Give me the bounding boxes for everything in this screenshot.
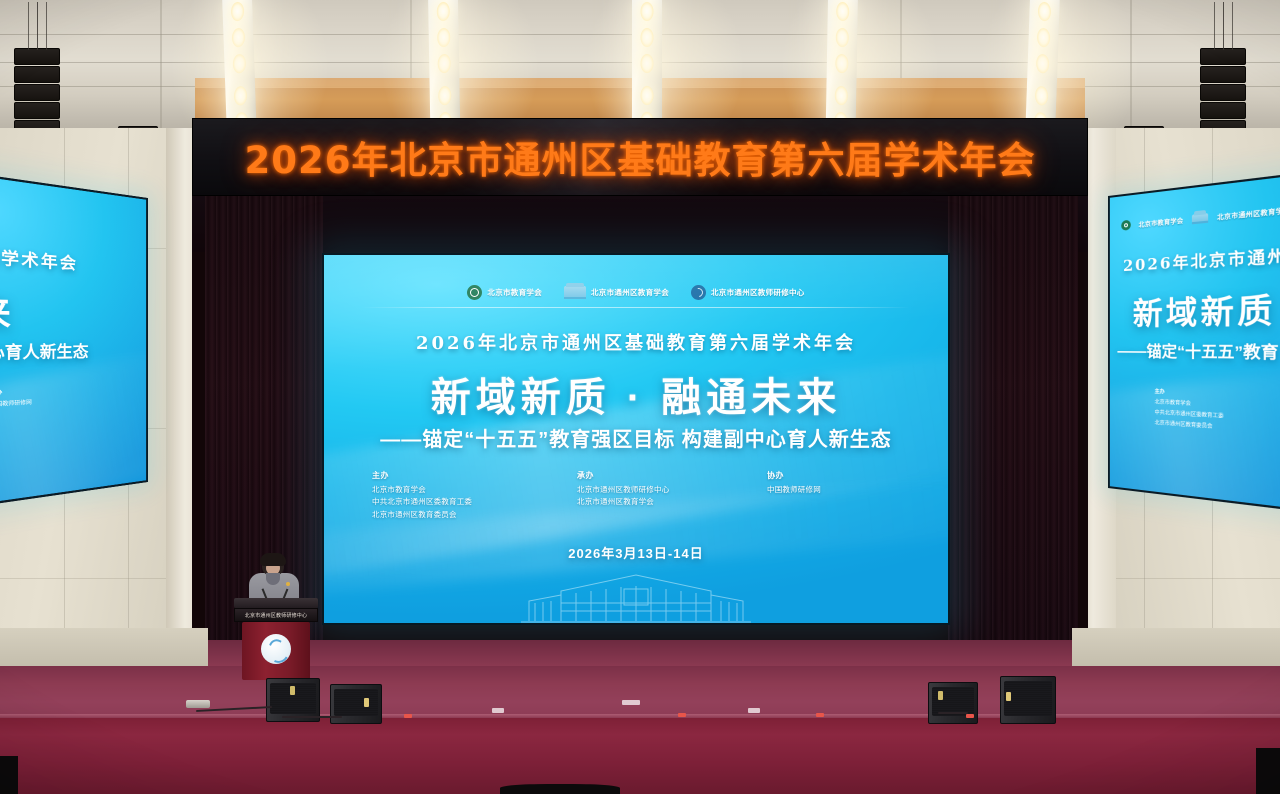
wall-base-right	[1072, 628, 1280, 670]
side-right-subtitle: ——锚定“十五五”教育	[1117, 340, 1278, 364]
slide-date: 2026年3月13日-14日	[324, 543, 948, 562]
credit-line: 北京市通州区教育学会	[577, 496, 767, 508]
slide-subtitle: ——锚定“十五五”教育强区目标 构建副中心育人新生态	[324, 423, 948, 452]
building-illustration	[521, 563, 751, 623]
stage-floor-marker	[492, 708, 504, 713]
logo-tongzhou-teacher-training-center: 北京市通州区教师研修中心	[691, 285, 805, 300]
credit-line: 中共北京市通州区委教育工委	[372, 496, 577, 508]
credit-heading: 协办	[767, 470, 821, 481]
stage-tape-mark	[966, 714, 974, 718]
speaker-hair	[260, 553, 286, 566]
floor-monitor-speaker	[1000, 676, 1056, 724]
banner-title-text: 2026年北京市通州区基础教育第六届学术年会	[245, 130, 1036, 184]
presentation-slide: 北京市教育学会 北京市通州区教育学会 北京市通州区教师研修中心 2026年北京市…	[324, 255, 948, 623]
side-right-logo-label: 北京市教育学会	[1139, 215, 1184, 229]
logo-beijing-education-society: 北京市教育学会	[467, 285, 542, 300]
side-led-screen-left[interactable]: 修中心 第六届学术年会 未来 建副中心育人新生态 协办 中国教师研修网	[0, 169, 148, 511]
auditorium-scene: 2026年北京市通州区基础教育第六届学术年会 北京市教育学会 北京市通州区教育学…	[0, 0, 1280, 794]
credit-line: 北京市通州区教师研修中心	[577, 484, 767, 496]
stage-floor-marker	[748, 708, 760, 713]
side-right-credit-line: 北京市教育学会	[1155, 398, 1191, 409]
podium-nameplate: 北京市通州区教师研修中心	[234, 608, 318, 622]
credit-column-host: 承办 北京市通州区教师研修中心 北京市通州区教育学会	[577, 470, 767, 521]
slide-logo-row: 北京市教育学会 北京市通州区教育学会 北京市通州区教师研修中心	[324, 285, 948, 300]
side-left-event-line: 第六届学术年会	[0, 240, 78, 274]
logo-tongzhou-education-society: 北京市通州区教育学会	[564, 286, 669, 299]
led-title-banner: 2026年北京市通州区基础教育第六届学术年会	[192, 118, 1088, 196]
stage-curtain-right	[948, 196, 1078, 666]
side-left-subtitle: 建副中心育人新生态	[0, 340, 88, 366]
credit-line: 北京市通州区教育委员会	[372, 509, 577, 521]
ceiling-light-fixture	[826, 0, 858, 137]
side-left-credit-heading: 协办	[0, 388, 2, 398]
lapel-pin-icon	[286, 582, 290, 586]
slide-divider	[362, 307, 910, 308]
stage-tape-mark	[678, 713, 686, 717]
logo-label: 北京市通州区教师研修中心	[711, 287, 805, 298]
cable	[282, 716, 342, 718]
building-icon	[564, 286, 586, 299]
swirl-emblem-icon	[261, 634, 291, 664]
swirl-circle-icon	[691, 285, 706, 300]
slide-main-title: 新域新质 · 融通未来	[324, 365, 948, 423]
stage-floor-marker	[622, 700, 640, 705]
ceiling-light-fixture	[428, 0, 460, 137]
stage-apron-front	[0, 718, 1280, 794]
power-strip	[186, 700, 210, 708]
stage-tape-mark	[404, 714, 412, 718]
logo-label: 北京市通州区教育学会	[591, 287, 669, 298]
side-right-event-line: 2026年北京市通州	[1123, 243, 1280, 276]
side-right-title: 新域新质	[1133, 283, 1276, 334]
credit-heading: 主办	[372, 470, 577, 481]
side-slide-right: 北京市教育学会 北京市通州区教育学会 2026年北京市通州 新域新质 ——锚定“…	[1110, 172, 1280, 513]
wall-base-left	[0, 628, 208, 670]
podium-nameplate-text: 北京市通州区教师研修中心	[245, 612, 307, 619]
credit-line: 北京市教育学会	[372, 484, 577, 496]
podium-and-speaker: 北京市通州区教师研修中心	[228, 552, 324, 680]
seal-circle-icon	[1121, 220, 1131, 231]
side-led-screen-right[interactable]: 北京市教育学会 北京市通州区教育学会 2026年北京市通州 新域新质 ——锚定“…	[1108, 169, 1280, 515]
credit-column-coorganizer: 协办 中国教师研修网	[767, 470, 821, 521]
stage-tape-mark	[816, 713, 824, 717]
side-slide-left: 修中心 第六届学术年会 未来 建副中心育人新生态 协办 中国教师研修网	[0, 172, 146, 508]
floor-monitor-speaker	[330, 684, 382, 724]
side-left-title: 未来	[0, 281, 14, 335]
main-led-screen[interactable]: 北京市教育学会 北京市通州区教育学会 北京市通州区教师研修中心 2026年北京市…	[322, 253, 950, 625]
side-right-logo-label: 北京市通州区教育学会	[1217, 204, 1280, 221]
cable	[938, 712, 968, 714]
credit-line: 中国教师研修网	[767, 484, 821, 496]
logo-label: 北京市教育学会	[487, 287, 542, 298]
credit-column-organizer: 主办 北京市教育学会 中共北京市通州区委教育工委 北京市通州区教育委员会	[372, 470, 577, 521]
building-icon	[1192, 213, 1208, 224]
slide-event-line: 2026年北京市通州区基础教育第六届学术年会	[324, 329, 948, 355]
side-right-credit-heading: 主办	[1155, 388, 1165, 397]
slide-credits: 主办 北京市教育学会 中共北京市通州区委教育工委 北京市通州区教育委员会 承办 …	[372, 470, 918, 521]
ceiling-light-fixture	[632, 0, 662, 136]
seal-circle-icon	[467, 285, 482, 300]
credit-heading: 承办	[577, 470, 767, 481]
lectern-top	[234, 598, 318, 608]
side-right-logo-row: 北京市教育学会 北京市通州区教育学会	[1121, 204, 1280, 231]
